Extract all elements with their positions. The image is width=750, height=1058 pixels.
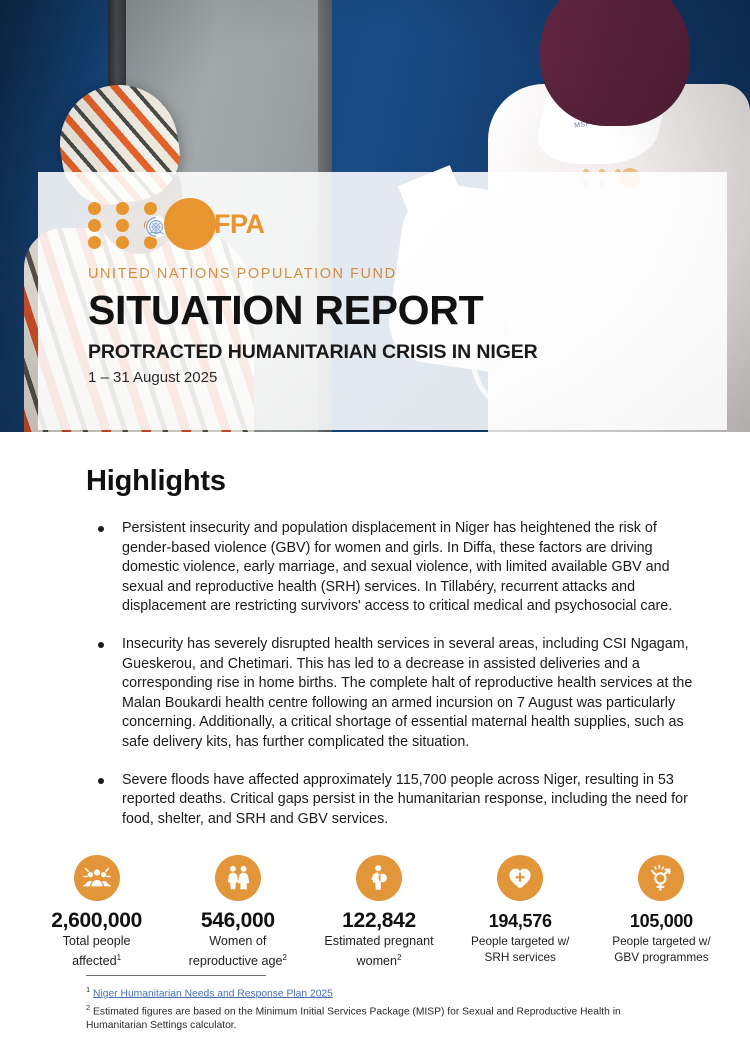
organization-name: UNITED NATIONS POPULATION FUND — [88, 266, 727, 282]
stat-footnote-marker: 2 — [397, 953, 401, 962]
footnote-1: 1 Niger Humanitarian Needs and Response … — [86, 983, 666, 1000]
people-group-icon — [74, 855, 120, 901]
title-banner: UNFPA UNITED NATIONS POPULATION FUND SIT… — [38, 172, 727, 430]
list-item: Insecurity has severely disrupted health… — [86, 635, 705, 753]
stat-footnote-marker: 1 — [117, 953, 121, 962]
stat-label: Total people affected1 — [26, 934, 167, 969]
stat-value: 194,576 — [450, 909, 591, 933]
highlights-heading: Highlights — [86, 465, 750, 498]
document-subtitle: PROTRACTED HUMANITARIAN CRISIS IN NIGER — [88, 340, 727, 364]
stat-label-line1: Total people — [63, 934, 131, 948]
logo-wordmark: UNFPA — [176, 210, 265, 238]
stat-women-reproductive-age: 546,000 Women of reproductive age2 — [167, 855, 308, 969]
footnote-divider — [86, 975, 266, 976]
heart-plus-icon — [497, 855, 543, 901]
unfpa-logo: UNFPA — [88, 198, 298, 250]
footnote-2: 2 Estimated figures are based on the Min… — [86, 1001, 666, 1031]
pregnant-woman-icon — [356, 855, 402, 901]
stat-label-line2: affected — [72, 954, 117, 968]
stat-label-line2: women — [356, 954, 397, 968]
main-content: Highlights Persistent insecurity and pop… — [0, 432, 750, 970]
footnote-marker: 2 — [86, 1003, 90, 1012]
stat-label-line2: SRH services — [484, 950, 555, 964]
highlights-list: Persistent insecurity and population dis… — [86, 519, 705, 829]
stat-total-people-affected: 2,600,000 Total people affected1 — [26, 855, 167, 969]
stat-label-line2: GBV programmes — [614, 950, 708, 964]
stat-label-line1: People targeted w/ — [612, 934, 710, 948]
document-title: SITUATION REPORT — [88, 288, 727, 332]
report-date-range: 1 – 31 August 2025 — [88, 368, 727, 388]
stat-label-line1: Estimated pregnant — [324, 934, 433, 948]
stat-label: Estimated pregnant women2 — [308, 934, 449, 969]
stat-srh-services-targeted: 194,576 People targeted w/ SRH services — [450, 855, 591, 969]
stat-value: 546,000 — [167, 909, 308, 933]
stat-label: People targeted w/ SRH services — [450, 934, 591, 965]
list-item: Severe floods have affected approximatel… — [86, 771, 705, 830]
footnotes-section: 1 Niger Humanitarian Needs and Response … — [86, 975, 666, 1033]
list-item: Persistent insecurity and population dis… — [86, 519, 705, 617]
footnote-marker: 1 — [86, 985, 90, 994]
stat-label: People targeted w/ GBV programmes — [591, 934, 732, 965]
stat-value: 122,842 — [308, 909, 449, 933]
stat-label-line1: People targeted w/ — [471, 934, 569, 948]
stat-estimated-pregnant-women: 122,842 Estimated pregnant women2 — [308, 855, 449, 969]
stat-label: Women of reproductive age2 — [167, 934, 308, 969]
stat-label-line2: reproductive age — [189, 954, 283, 968]
stat-value: 2,600,000 — [26, 909, 167, 933]
stat-label-line1: Women of — [209, 934, 266, 948]
stat-gbv-programmes-targeted: 105,000 People targeted w/ GBV programme… — [591, 855, 732, 969]
footnote-link[interactable]: Niger Humanitarian Needs and Response Pl… — [93, 988, 333, 999]
stat-footnote-marker: 2 — [282, 953, 286, 962]
two-women-icon — [215, 855, 261, 901]
gender-symbol-icon — [638, 855, 684, 901]
key-figures-row: 2,600,000 Total people affected1 546,000 — [26, 855, 732, 969]
footnote-text: Estimated figures are based on the Minim… — [86, 1007, 621, 1031]
stat-value: 105,000 — [591, 909, 732, 933]
